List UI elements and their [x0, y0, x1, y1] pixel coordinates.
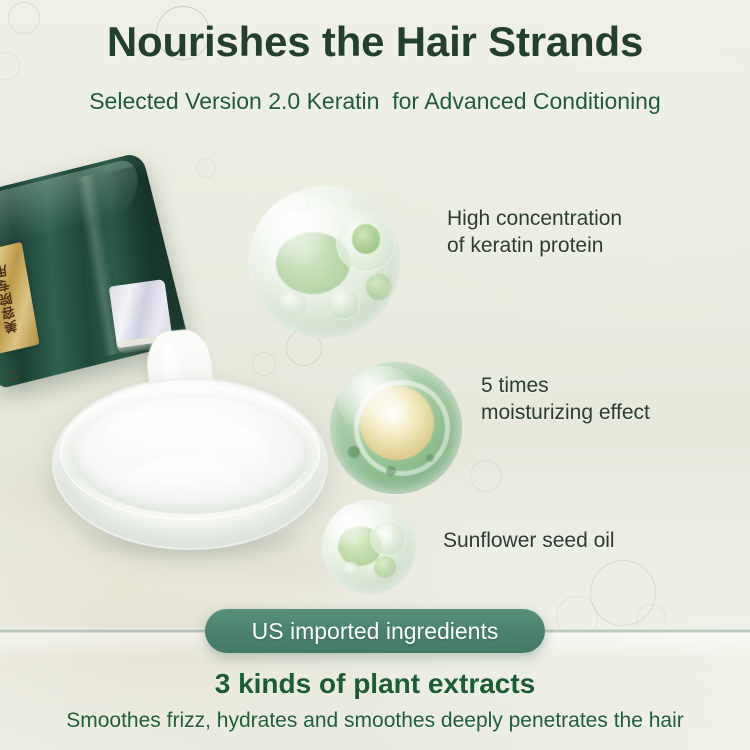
feature-keratin-line1: High concentration [447, 206, 622, 233]
product-banner: Nourishes the Hair Strands Selected Vers… [0, 0, 750, 750]
feature-sunflower-line1: Sunflower seed oil [443, 528, 615, 555]
bubble2-shell [330, 362, 462, 494]
petri-dish-rim [60, 385, 320, 520]
pouch-gold-label: 美容院专用 [0, 242, 40, 355]
pouch-label-text: 美容院专用 [0, 262, 21, 334]
petri-dish [52, 378, 328, 550]
bubble1-shell [248, 186, 400, 338]
plant-extracts-tagline: 3 kinds of plant extracts [0, 668, 750, 700]
page-subtitle: Selected Version 2.0 Keratin for Advance… [0, 88, 750, 115]
bubble3-shell [322, 500, 416, 594]
trademark-icon [7, 369, 19, 381]
page-title: Nourishes the Hair Strands [0, 18, 750, 66]
gel-bubble-moisture [330, 362, 462, 494]
feature-moisture-line1: 5 times [481, 373, 650, 400]
gel-bubble-sunflower [322, 500, 416, 594]
feature-callout-keratin: High concentration of keratin protein [447, 206, 622, 260]
badge-label: US imported ingredients [252, 618, 499, 645]
imported-ingredients-badge: US imported ingredients [205, 609, 545, 653]
feature-callout-sunflower: Sunflower seed oil [443, 528, 615, 555]
feature-callout-moisture: 5 times moisturizing effect [481, 373, 650, 427]
feature-keratin-line2: of keratin protein [447, 233, 622, 260]
gel-bubble-keratin [248, 186, 400, 338]
feature-moisture-line2: moisturizing effect [481, 400, 650, 427]
benefits-footnote: Smoothes frizz, hydrates and smoothes de… [0, 709, 750, 733]
